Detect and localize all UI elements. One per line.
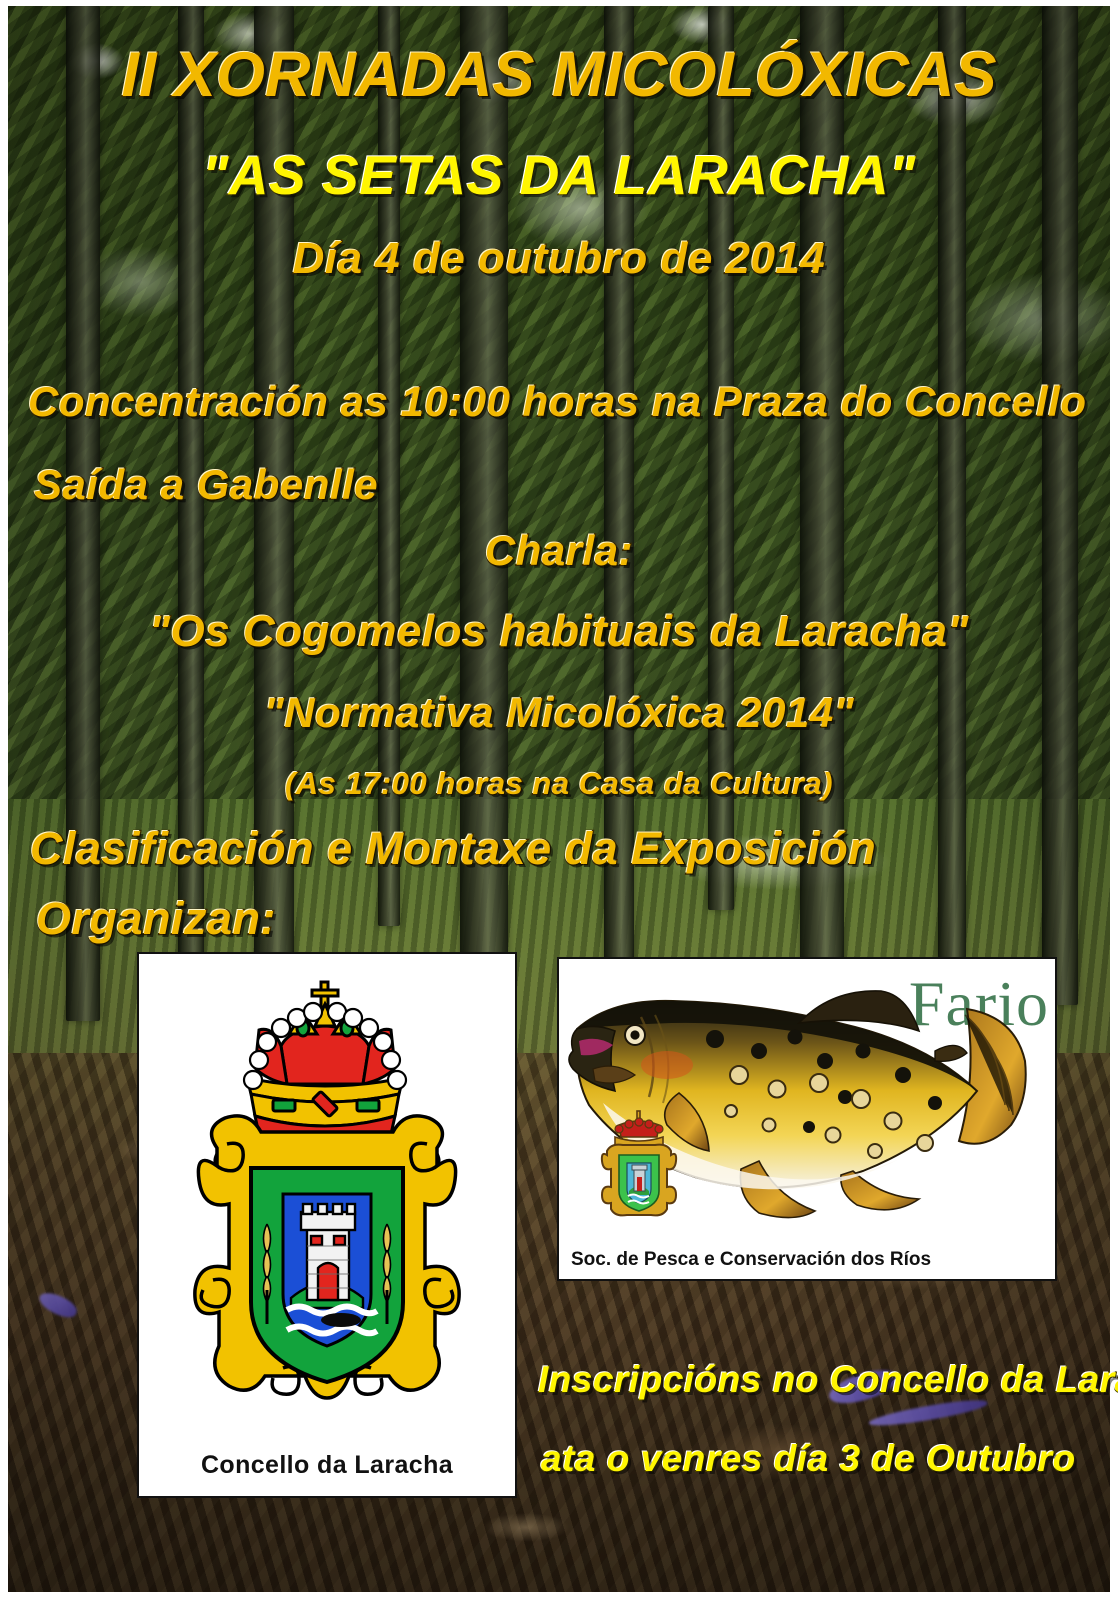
meeting-point-text: Concentración as 10:00 horas na Praza do… (28, 381, 1086, 423)
poster-date: Día 4 de outubro de 2014 (293, 237, 826, 281)
poster-root: II XORNADAS MICOLÓXICAS "AS SETAS DA LAR… (0, 0, 1118, 1600)
organizer-caption-concello: Concello da Laracha (139, 1451, 515, 1480)
organizer-logo-concello: Concello da Laracha (137, 952, 517, 1498)
talk-title-2: "Normativa Micolóxica 2014" (264, 692, 854, 734)
coat-of-arms-laracha-icon (155, 968, 499, 1438)
organizer-logo-fario: Fario (557, 957, 1057, 1281)
exhibition-text: Clasificación e Montaxe da Exposición (30, 826, 876, 871)
talk-time-venue: (As 17:00 horas na Casa da Cultura) (285, 768, 833, 799)
talk-label: Charla: (485, 530, 633, 572)
registration-line-2: ata o venres día 3 de Outubro (541, 1440, 1076, 1477)
organizer-caption-fario: Soc. de Pesca e Conservación dos Ríos (571, 1249, 931, 1271)
departure-text: Saída a Gabenlle (34, 464, 378, 506)
registration-line-1: Inscripcións no Concello da Laracha (538, 1361, 1118, 1398)
talk-title-1: "Os Cogomelos habituais da Laracha" (149, 610, 969, 654)
poster-title-line-1: II XORNADAS MICOLÓXICAS (121, 44, 996, 107)
coat-of-arms-laracha-small-icon (593, 1107, 685, 1223)
organizers-label: Organizan: (36, 896, 276, 941)
poster-title-line-2: "AS SETAS DA LARACHA" (202, 148, 916, 203)
